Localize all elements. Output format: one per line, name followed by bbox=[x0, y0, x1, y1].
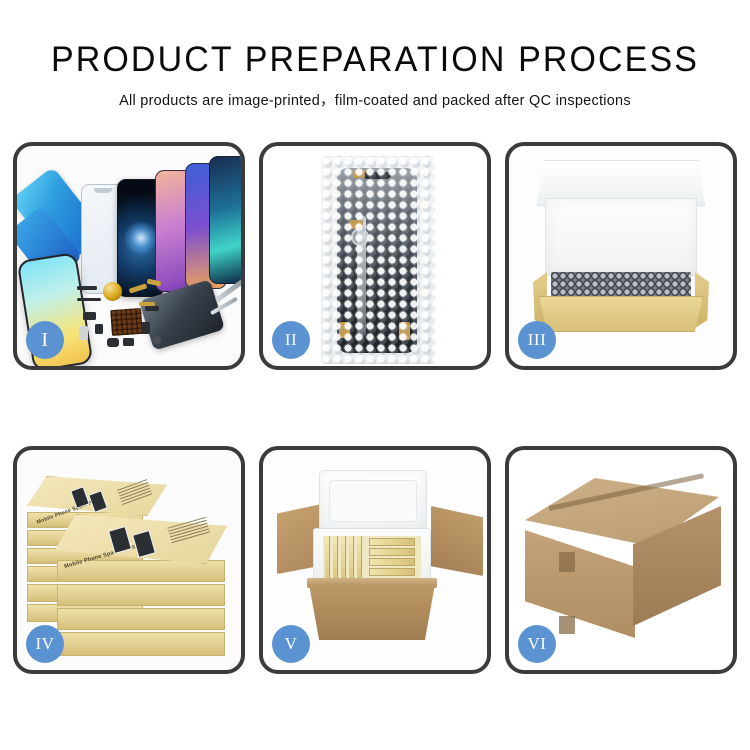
step-badge-3: III bbox=[518, 321, 556, 359]
step-badge-5: V bbox=[272, 625, 310, 663]
header: PRODUCT PREPARATION PROCESS All products… bbox=[0, 40, 750, 110]
step-badge-2: II bbox=[272, 321, 310, 359]
box-front-panel-icon bbox=[539, 296, 703, 332]
small-part-icon bbox=[83, 312, 96, 320]
flex-cable-icon bbox=[139, 302, 155, 306]
bubble-padding-icon bbox=[551, 272, 691, 300]
step-badge-4: IV bbox=[26, 625, 64, 663]
page-subtitle: All products are image-printed，film-coat… bbox=[0, 89, 750, 110]
gold-coil-part-icon bbox=[103, 282, 122, 301]
stacked-box-icon bbox=[57, 632, 225, 656]
small-part-icon bbox=[77, 286, 97, 290]
step-panel-3[interactable]: III bbox=[505, 142, 737, 370]
foam-lid-icon bbox=[319, 470, 427, 532]
carton-tape-icon bbox=[559, 616, 575, 634]
step-panel-6[interactable]: VI bbox=[505, 446, 737, 674]
small-part-icon bbox=[153, 336, 161, 344]
small-part-icon bbox=[79, 326, 88, 340]
small-part-icon bbox=[123, 338, 134, 346]
small-part-icon bbox=[107, 338, 119, 347]
step-badge-6: VI bbox=[518, 625, 556, 663]
small-part-icon bbox=[141, 322, 150, 334]
carton-flap-right-icon bbox=[431, 506, 483, 576]
product-preparation-infographic: PRODUCT PREPARATION PROCESS All products… bbox=[0, 0, 750, 750]
bubble-texture-icon bbox=[321, 156, 435, 364]
carton-tape-icon bbox=[559, 552, 575, 572]
step-panel-4[interactable]: Mobile Phone Spare Parts Mobile Phone Sp… bbox=[13, 446, 245, 674]
stacked-box-icon bbox=[57, 584, 225, 606]
inner-yellow-boxes-icon bbox=[323, 536, 421, 580]
step-panel-2[interactable]: II bbox=[259, 142, 491, 370]
stacked-box-icon bbox=[57, 608, 225, 630]
teal-phone-display-icon bbox=[209, 156, 241, 284]
page-title: PRODUCT PREPARATION PROCESS bbox=[11, 40, 739, 80]
white-foam-sheet-icon bbox=[545, 198, 697, 276]
carton-left-face-icon bbox=[525, 530, 635, 638]
step-panel-5[interactable]: V bbox=[259, 446, 491, 674]
small-part-icon bbox=[145, 306, 159, 311]
small-part-icon bbox=[95, 324, 103, 334]
step-panel-1[interactable]: I bbox=[13, 142, 245, 370]
small-part-icon bbox=[77, 298, 101, 301]
process-step-grid: I II bbox=[13, 142, 737, 688]
circuit-board-part-icon bbox=[110, 308, 143, 336]
carton-front-icon bbox=[309, 584, 435, 640]
step-badge-1: I bbox=[26, 321, 64, 359]
